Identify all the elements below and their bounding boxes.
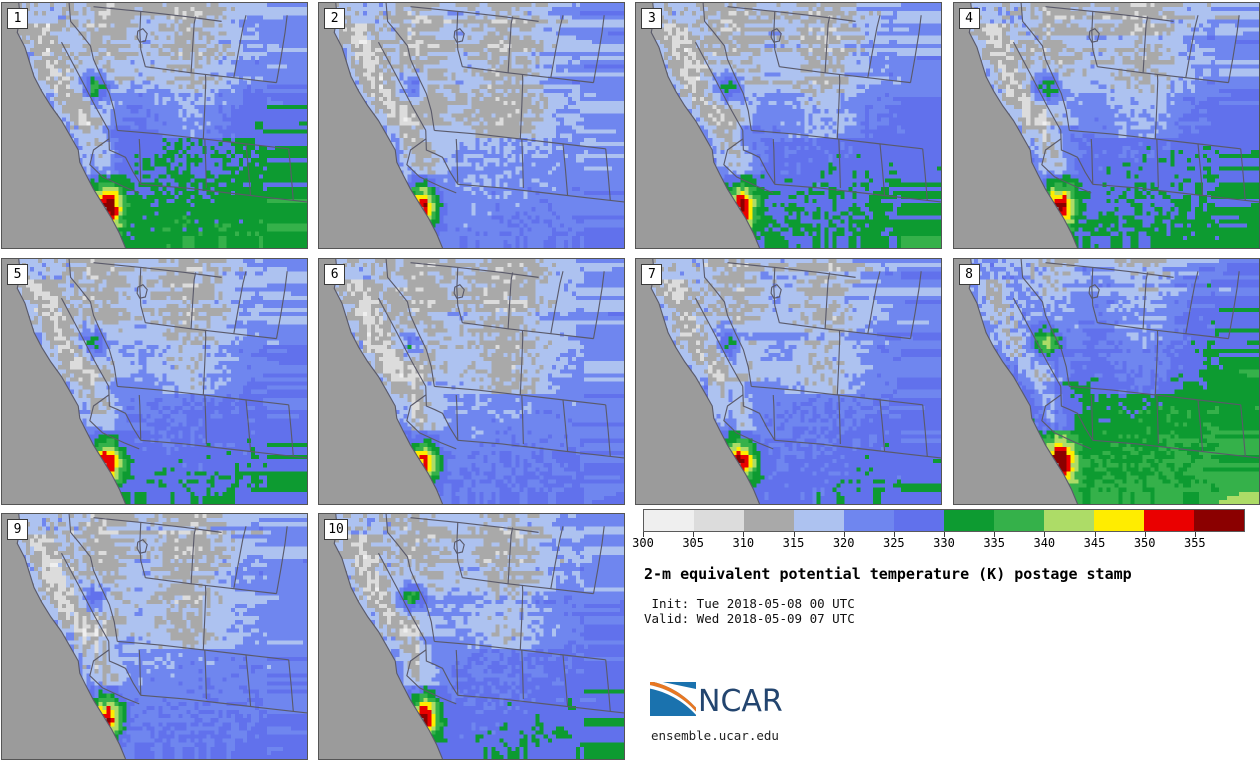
colorbar-swatch-310-315 — [744, 510, 794, 531]
colorbar-tick-label: 310 — [732, 536, 754, 550]
colorbar-swatch-355-360 — [1194, 510, 1244, 531]
map-panel-3[interactable]: 3 — [635, 2, 942, 249]
colorbar-swatch-335-340 — [994, 510, 1044, 531]
panel-number-label: 10 — [324, 519, 348, 540]
colorbar-swatch-330-335 — [944, 510, 994, 531]
ncar-logo: NCAR — [648, 678, 793, 722]
ncar-logo-text: NCAR — [698, 684, 783, 719]
map-panel-9[interactable]: 9 — [1, 513, 308, 760]
colorbar-tick-label: 305 — [682, 536, 704, 550]
map-panel-5[interactable]: 5 — [1, 258, 308, 505]
colorbar-swatch-315-320 — [794, 510, 844, 531]
panel-number-label: 4 — [959, 8, 980, 29]
colorbar-swatch-325-330 — [894, 510, 944, 531]
page-title: 2-m equivalent potential temperature (K)… — [644, 565, 1132, 583]
map-panel-6[interactable]: 6 — [318, 258, 625, 505]
ncar-logo-mark: NCAR — [648, 678, 793, 722]
panel-number-label: 1 — [7, 8, 28, 29]
colorbar-swatch-300-305 — [644, 510, 694, 531]
colorbar-tick-label: 300 — [632, 536, 654, 550]
colorbar-tick-labels: 300305310315320325330335340345350355 — [643, 532, 1245, 554]
ncar-logo-url: ensemble.ucar.edu — [651, 728, 779, 743]
figure-canvas: 12345678910 3003053103153203253303353403… — [0, 0, 1260, 746]
map-panel-7[interactable]: 7 — [635, 258, 942, 505]
panel-number-label: 2 — [324, 8, 345, 29]
map-panel-1[interactable]: 1 — [1, 2, 308, 249]
map-panel-10[interactable]: 10 — [318, 513, 625, 760]
colorbar-tick-label: 335 — [983, 536, 1005, 550]
colorbar-tick-label: 350 — [1134, 536, 1156, 550]
colorbar-tick-label: 325 — [883, 536, 905, 550]
map-panel-4[interactable]: 4 — [953, 2, 1260, 249]
colorbar-tick-label: 355 — [1184, 536, 1206, 550]
colorbar-swatch-350-355 — [1144, 510, 1194, 531]
panel-number-label: 5 — [7, 264, 28, 285]
colorbar-swatch-320-325 — [844, 510, 894, 531]
panel-number-label: 8 — [959, 264, 980, 285]
colorbar-tick-label: 315 — [783, 536, 805, 550]
colorbar-tick-label: 330 — [933, 536, 955, 550]
colorbar-swatch-340-345 — [1044, 510, 1094, 531]
colorbar-swatch-305-310 — [694, 510, 744, 531]
colorbar-swatch-345-350 — [1094, 510, 1144, 531]
panel-number-label: 3 — [641, 8, 662, 29]
map-panel-2[interactable]: 2 — [318, 2, 625, 249]
colorbar-tick-label: 340 — [1033, 536, 1055, 550]
panel-number-label: 7 — [641, 264, 662, 285]
colorbar: 300305310315320325330335340345350355 — [643, 509, 1245, 554]
valid-time-label: Valid: Wed 2018-05-09 07 UTC — [644, 611, 855, 626]
colorbar-swatches — [643, 509, 1245, 532]
colorbar-tick-label: 345 — [1084, 536, 1106, 550]
panel-number-label: 9 — [7, 519, 28, 540]
colorbar-tick-label: 320 — [833, 536, 855, 550]
map-panel-8[interactable]: 8 — [953, 258, 1260, 505]
panel-number-label: 6 — [324, 264, 345, 285]
init-time-label: Init: Tue 2018-05-08 00 UTC — [644, 596, 855, 611]
